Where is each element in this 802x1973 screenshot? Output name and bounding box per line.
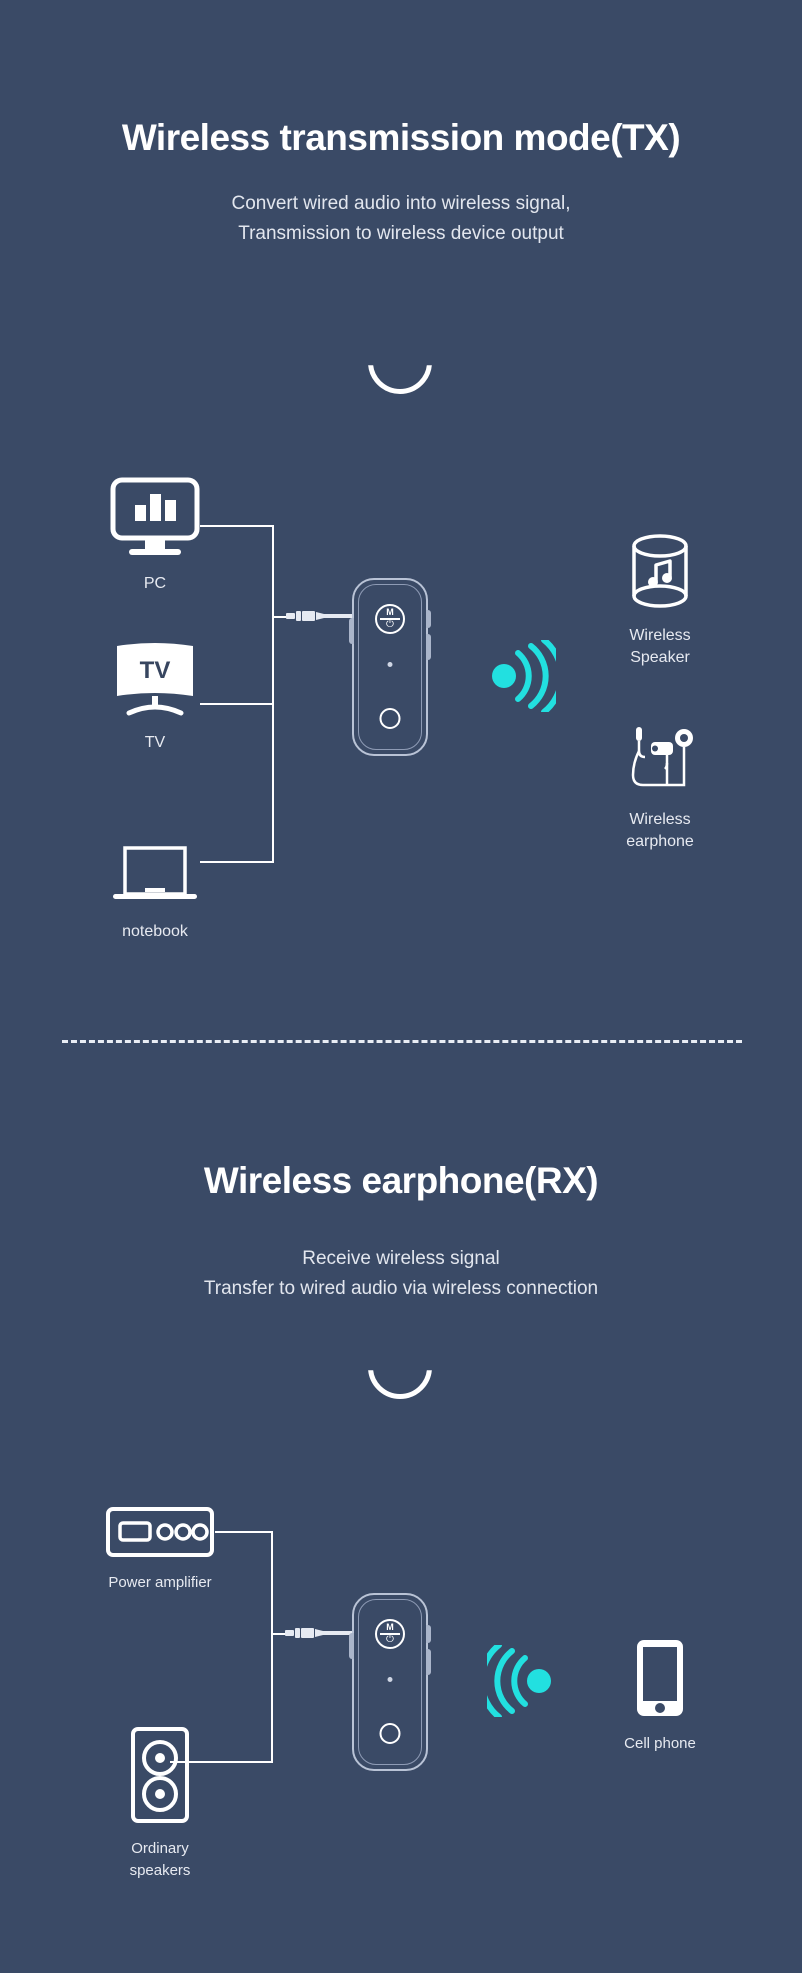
node-power-amplifier-label: Power amplifier: [108, 1572, 211, 1594]
audio-jack-icon-rx: [285, 1625, 359, 1639]
device-multifunction-button-rx[interactable]: [380, 1723, 401, 1744]
device-side-button-right-top-rx[interactable]: [426, 1625, 431, 1643]
rx-diagram: Power amplifier Ordinary speakers: [0, 0, 802, 1973]
device-side-button-right-bottom-rx[interactable]: [426, 1649, 431, 1675]
node-ordinary-speakers-label: Ordinary speakers: [105, 1838, 215, 1882]
bluetooth-adapter-device-rx[interactable]: M ⏻: [352, 1593, 428, 1771]
power-symbol-icon-rx: ⏻: [377, 1635, 403, 1645]
node-power-amplifier: Power amplifier: [105, 1506, 215, 1594]
wire-to-jack-rx: [271, 1633, 285, 1635]
smartphone-icon: [634, 1637, 686, 1724]
wire-amp-h: [215, 1531, 273, 1533]
device-power-button-rx[interactable]: M ⏻: [375, 1619, 405, 1649]
node-cell-phone: Cell phone: [605, 1637, 715, 1755]
speaker-cabinet-icon: [129, 1726, 191, 1829]
device-led-indicator-rx: [388, 1677, 393, 1682]
amplifier-icon: [105, 1506, 215, 1563]
wire-speakers-h: [170, 1761, 273, 1763]
device-side-button-left-rx[interactable]: [349, 1633, 354, 1659]
wire-trunk-rx-v: [271, 1531, 273, 1763]
device-power-label-rx: M: [377, 1623, 403, 1632]
node-ordinary-speakers: Ordinary speakers: [105, 1726, 215, 1882]
node-cell-phone-label: Cell phone: [624, 1733, 696, 1755]
wireless-signal-in-icon: [487, 1645, 553, 1717]
